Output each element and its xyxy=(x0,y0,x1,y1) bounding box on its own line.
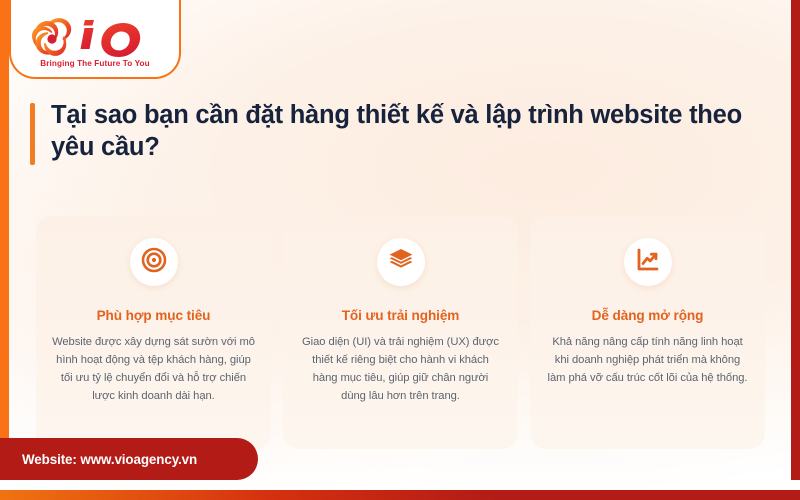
feature-card-group: Phù hợp mục tiêu Website được xây dựng s… xyxy=(36,216,766,449)
growth-line-chart-icon xyxy=(635,247,661,278)
feature-card-experience: Tối ưu trải nghiệm Giao diện (UI) và trả… xyxy=(283,216,518,449)
logo-lockup xyxy=(30,16,161,58)
card-title: Phù hợp mục tiêu xyxy=(97,308,211,323)
slide-canvas: Bringing The Future To You Tại sao bạn c… xyxy=(0,0,800,500)
feature-card-goal-fit: Phù hợp mục tiêu Website được xây dựng s… xyxy=(36,216,271,449)
card-description: Giao diện (UI) và trải nghiệm (UX) được … xyxy=(299,333,502,406)
footer-website-banner: Website: www.vioagency.vn xyxy=(0,438,258,480)
card-title: Tối ưu trải nghiệm xyxy=(342,308,460,323)
logo-tagline: Bringing The Future To You xyxy=(40,59,149,68)
headline-accent-bar xyxy=(30,103,35,165)
footer-gradient-bar xyxy=(0,490,800,500)
feature-card-scalability: Dễ dàng mở rộng Khả năng nâng cấp tính n… xyxy=(530,216,765,449)
logo-plate: Bringing The Future To You xyxy=(9,0,181,79)
card-description: Khả năng nâng cấp tính năng linh hoạt kh… xyxy=(546,333,749,387)
headline-block: Tại sao bạn cần đặt hàng thiết kế và lập… xyxy=(30,99,765,165)
swirl-arrows-icon xyxy=(30,17,74,57)
left-orange-rail xyxy=(0,0,9,459)
footer-website-label: Website: www.vioagency.vn xyxy=(22,452,197,467)
card-title: Dễ dàng mở rộng xyxy=(592,308,704,323)
card-icon-badge xyxy=(130,238,178,286)
target-bullseye-icon xyxy=(141,247,167,278)
card-icon-badge xyxy=(624,238,672,286)
right-red-rail xyxy=(791,0,800,480)
card-icon-badge xyxy=(377,238,425,286)
logo-wordmark xyxy=(75,16,161,58)
page-title: Tại sao bạn cần đặt hàng thiết kế và lập… xyxy=(51,99,765,164)
layers-stack-icon xyxy=(388,247,414,278)
card-description: Website được xây dựng sát sườn với mô hì… xyxy=(52,333,255,406)
